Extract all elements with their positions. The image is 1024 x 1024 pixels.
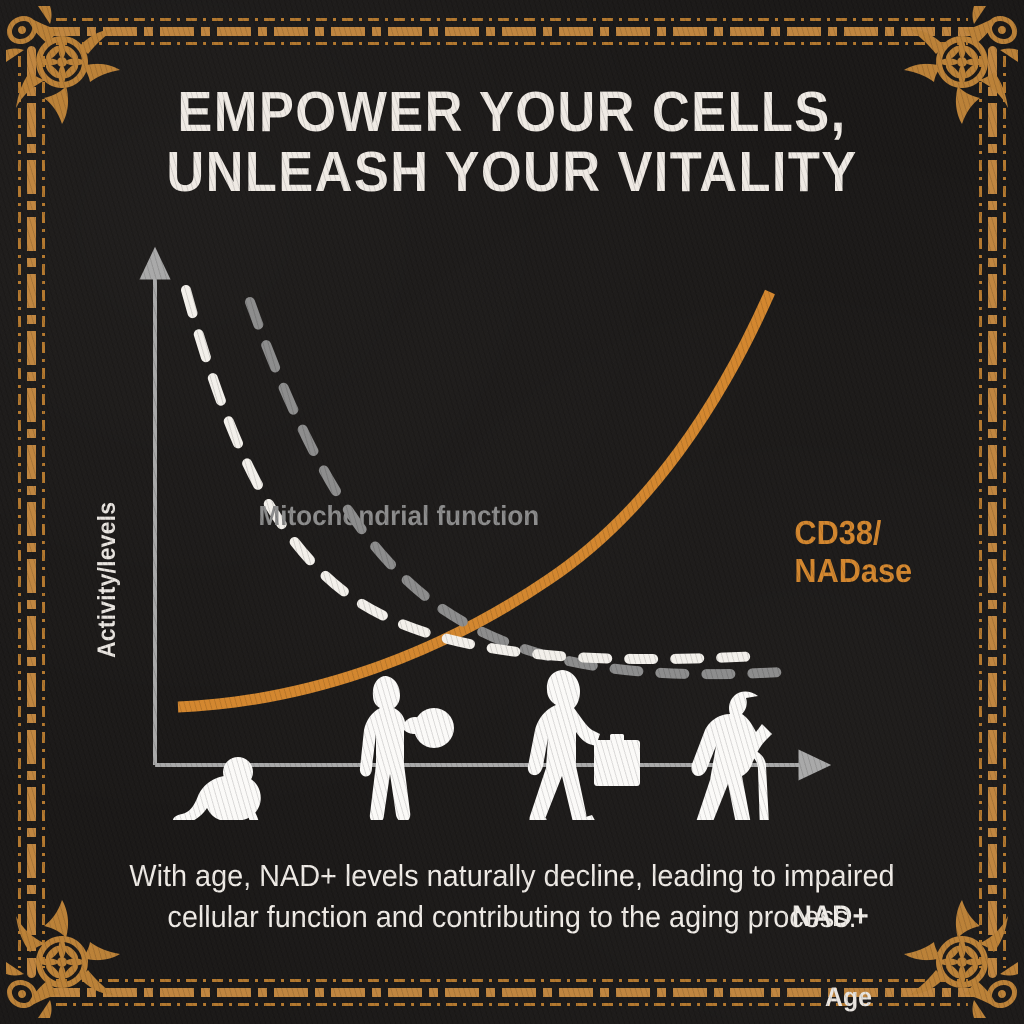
page-title: EMPOWER YOUR CELLS, UNLEASH YOUR VITALIT… — [41, 82, 983, 202]
x-axis-label: Age — [825, 982, 872, 1013]
caption-line-1: With age, NAD+ levels naturally decline,… — [129, 858, 894, 893]
infographic-poster: EMPOWER YOUR CELLS, UNLEASH YOUR VITALIT… — [0, 0, 1024, 1024]
caption: With age, NAD+ levels naturally decline,… — [129, 855, 895, 937]
headline-line-2: UNLEASH YOUR VITALITY — [41, 142, 983, 202]
series-label-cd38-line1: CD38/ — [794, 514, 881, 551]
border-line-top-middle — [46, 27, 978, 36]
series-label-cd38-line2: NADase — [794, 552, 912, 589]
corner-ornament-bottom-right-icon — [888, 888, 1020, 1020]
series-label-cd38-nadase: CD38/ NADase — [794, 514, 912, 590]
corner-ornament-bottom-left-icon — [4, 888, 136, 1020]
border-line-top-outer — [56, 18, 968, 21]
series-label-mitochondrial-function: Mitochondrial function — [259, 500, 540, 532]
series-line-nad-plus — [186, 290, 760, 659]
aging-nad-chart: Activity/levels Age Mitochondrial functi… — [0, 240, 1024, 820]
caption-line-2: cellular function and contributing to th… — [129, 896, 895, 937]
figure-adult-with-briefcase-icon — [521, 670, 640, 820]
headline-line-1: EMPOWER YOUR CELLS, — [41, 82, 983, 142]
border-line-top-inner — [56, 42, 968, 45]
figure-elderly-with-cane-icon — [685, 692, 776, 821]
y-axis-label: Activity/levels — [93, 474, 122, 658]
series-line-mitochondrial-function — [250, 302, 782, 674]
figure-youth-with-ball-icon — [358, 676, 454, 820]
